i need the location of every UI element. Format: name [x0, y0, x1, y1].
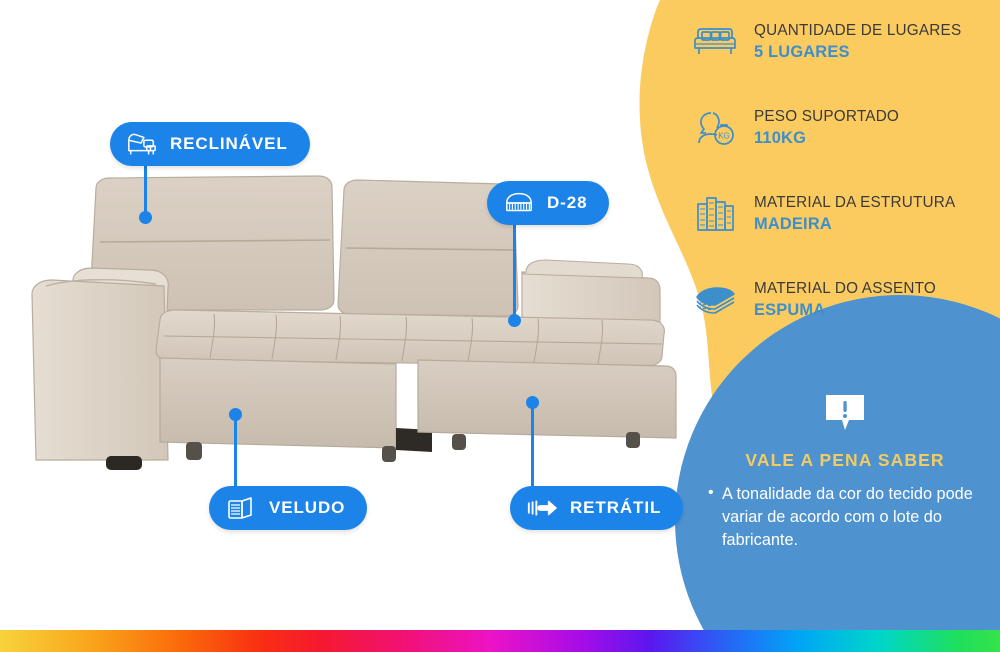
feature-pill-reclinavel[interactable]: RECLINÁVEL — [110, 122, 310, 166]
spec-label: MATERIAL DA ESTRUTURA — [754, 193, 955, 212]
note-panel: VALE A PENA SABER A tonalidade da cor do… — [700, 392, 990, 552]
exclamation-bubble-icon — [822, 392, 868, 434]
connector-line-d28 — [513, 225, 516, 320]
feature-pill-label: RETRÁTIL — [570, 498, 661, 518]
feature-pill-label: D-28 — [547, 193, 587, 213]
spec-value: MADEIRA — [754, 214, 955, 235]
recliner-icon — [126, 129, 158, 159]
sofa-foot-2 — [186, 442, 202, 460]
spec-value: 5 LUGARES — [754, 42, 961, 63]
sofa-arm-left-body — [32, 280, 168, 460]
spec-row-material-do-assento: MATERIAL DO ASSENTO ESPUMA — [690, 264, 990, 336]
connector-dot-retratil — [526, 396, 539, 409]
connector-line-veludo — [234, 414, 237, 486]
svg-text:KG: KG — [718, 132, 730, 141]
spec-text: MATERIAL DA ESTRUTURA MADEIRA — [754, 193, 955, 235]
feature-pill-d28[interactable]: D-28 — [487, 181, 609, 225]
spec-row-peso-suportado: KG PESO SUPORTADO 110KG — [690, 92, 990, 164]
feature-pill-label: RECLINÁVEL — [170, 134, 288, 154]
sofa-base-right — [418, 360, 676, 438]
fabric-swatch-icon — [225, 493, 257, 523]
feature-pill-retratil[interactable]: RETRÁTIL — [510, 486, 683, 530]
rainbow-footer-strip — [0, 630, 1000, 652]
feature-pill-veludo[interactable]: VELUDO — [209, 486, 367, 530]
sofa-seat — [156, 310, 664, 366]
connector-line-reclinavel — [144, 166, 147, 216]
sofa-foot-1 — [106, 456, 142, 470]
spec-row-quantidade-de-lugares: QUANTIDADE DE LUGARES 5 LUGARES — [690, 6, 990, 78]
spec-label: PESO SUPORTADO — [754, 107, 899, 126]
spec-label: QUANTIDADE DE LUGARES — [754, 21, 961, 40]
foam-layers-icon — [690, 275, 740, 325]
sofa-foot-4 — [452, 434, 466, 450]
spec-value: ESPUMA — [754, 300, 936, 321]
connector-dot-reclinavel — [139, 211, 152, 224]
sofa-icon — [690, 17, 740, 67]
spec-text: QUANTIDADE DE LUGARES 5 LUGARES — [754, 21, 961, 63]
sofa-base-left — [160, 358, 396, 448]
note-title: VALE A PENA SABER — [700, 450, 990, 471]
sofa-foot-5 — [626, 432, 640, 448]
wood-planks-icon — [690, 189, 740, 239]
spec-text: PESO SUPORTADO 110KG — [754, 107, 899, 149]
extend-arrow-icon — [526, 493, 558, 523]
connector-line-retratil — [531, 402, 534, 486]
spec-label: MATERIAL DO ASSENTO — [754, 279, 936, 298]
connector-dot-d28 — [508, 314, 521, 327]
note-body: A tonalidade da cor do tecido pode varia… — [700, 483, 990, 552]
infographic-canvas: RECLINÁVEL D-28 VELUDO — [0, 0, 1000, 652]
weight-person-icon: KG — [690, 103, 740, 153]
spec-value: 110KG — [754, 128, 899, 149]
connector-dot-veludo — [229, 408, 242, 421]
spec-row-material-da-estrutura: MATERIAL DA ESTRUTURA MADEIRA — [690, 178, 990, 250]
foam-density-icon — [503, 188, 535, 218]
sofa-foot-3 — [382, 446, 396, 462]
spec-text: MATERIAL DO ASSENTO ESPUMA — [754, 279, 936, 321]
specifications-list: QUANTIDADE DE LUGARES 5 LUGARES KG PESO … — [690, 6, 990, 350]
feature-pill-label: VELUDO — [269, 498, 345, 518]
